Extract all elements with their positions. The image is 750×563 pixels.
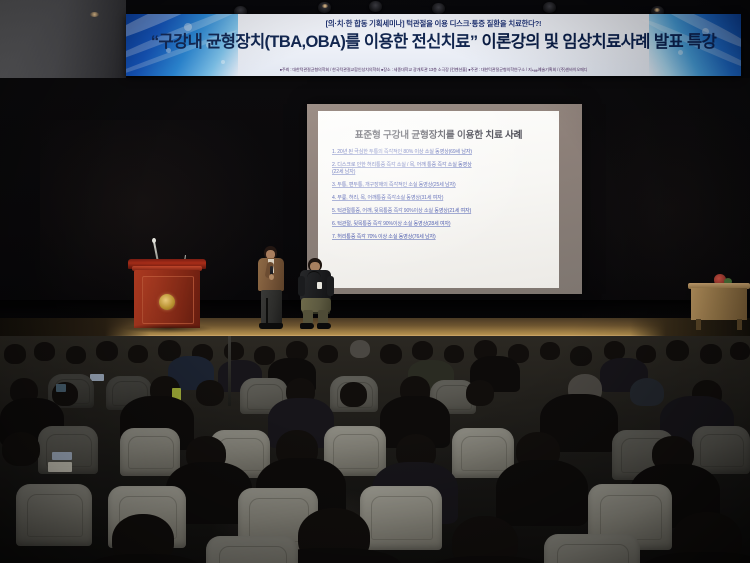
banner-title-suffix: 이론강의 및 임상치료사례 발표 특강 [478, 33, 717, 51]
audience-body-foreground [84, 554, 204, 563]
audience-head [4, 344, 26, 364]
standing-presenter [256, 246, 290, 330]
seminar-banner: [의·치·한 합동 기획세미나] 턱관절을 이용 디스크·통증 질환을 치료한다… [126, 14, 741, 76]
slide-bullet: 7. 허리통증 즉각 70% 이상 소실 동영상(76세 남자) [332, 234, 547, 242]
audience-head [128, 345, 148, 363]
ceiling-spotlight-icon [369, 1, 382, 12]
slide-bullet: 4. 무릎, 허리, 목, 어깨통증 즉각소실 동영상(31세 여자) [332, 195, 547, 203]
slide-bullet: 5. 턱관절통증, 어깨, 뒷목통증 즉각 90%이상 소실 동영상(21세 여… [332, 208, 547, 216]
audience-head-with-cap [630, 378, 664, 406]
banner-title-text: 구강내 균형장치(TBA,OBA)를 이용한 전신치료 [158, 33, 469, 51]
banner-footer-credits: ●주최 : 대한턱관절균형의학회 / 한국턱관절교합인성치의학회 ●장소 : 세… [126, 67, 741, 73]
table-leg-left [696, 319, 701, 330]
audience-head [570, 346, 592, 366]
participant-shoe-left [300, 323, 314, 329]
podium-microphone-icon [152, 238, 156, 243]
microphone-stand [228, 336, 231, 406]
audience-head [466, 380, 494, 406]
audience-body-foreground [424, 556, 552, 563]
quote-close: ” [470, 33, 478, 51]
projection-screen-frame: 표준형 구강내 균형장치를 이용한 치료 사례 1. 20년 된 극심한 두통의… [307, 104, 582, 294]
presenter-leg-gap [266, 298, 268, 324]
handout-paper [90, 374, 104, 381]
participant-shoe-right [317, 323, 331, 329]
audience-head [96, 341, 118, 361]
slide-bullet-text: 6. 턱관절, 뒷목통증 즉각 90%이상 소실 동영상(28세 여자) [332, 221, 450, 227]
name-badge [317, 282, 322, 289]
slide-bullet: 6. 턱관절, 뒷목통증 즉각 90%이상 소실 동영상(28세 여자) [332, 221, 547, 229]
ceiling-spotlight-icon [432, 3, 445, 14]
audience-head [318, 345, 338, 363]
presenter-legs [261, 290, 282, 324]
slide-bullet: 3. 두통, 편두통, 개구장애의 즉각적인 소실 동영상(25세 남자) [332, 182, 547, 190]
audience-head [540, 342, 560, 360]
audience-head [380, 344, 402, 364]
audience-head [666, 340, 689, 361]
audience-head [196, 380, 224, 406]
audience-head [34, 342, 55, 361]
slide-bullet-text: 3. 두통, 편두통, 개구장애의 즉각적인 소실 동영상(25세 남자) [332, 182, 456, 188]
participant-arm-left [298, 276, 305, 296]
audience-area [0, 336, 750, 563]
auditorium-seat [360, 486, 442, 550]
audience-head [340, 382, 367, 407]
podium [128, 253, 206, 328]
slide-bullet-subtext: (22세 남자) [332, 169, 547, 177]
slide-bullet-text: 4. 무릎, 허리, 목, 어깨통증 즉각소실 동영상(31세 여자) [332, 195, 443, 201]
table-body [691, 288, 747, 320]
spotlight-glow [322, 4, 328, 8]
slide-bullet-text: 5. 턱관절통증, 어깨, 뒷목통증 즉각 90%이상 소실 동영상(21세 여… [332, 208, 471, 214]
table-leg-right [737, 319, 742, 330]
slide-bullet-text: 1. 20년 된 극심한 두통의 즉각적인 80% 이상 소실 동영상(69세 … [332, 149, 472, 155]
participant-arm-right [327, 276, 334, 296]
audience-head [444, 345, 464, 363]
auditorium-scene: [의·치·한 합동 기획세미나] 턱관절을 이용 디스크·통증 질환을 치료한다… [0, 0, 750, 563]
audience-head [2, 432, 40, 466]
slide-bullet-text: 7. 허리통증 즉각 70% 이상 소실 동영상(76세 남자) [332, 234, 436, 240]
audience-head [412, 341, 433, 360]
presenter-hand [269, 274, 274, 280]
audience-head [224, 342, 244, 360]
auditorium-seat [206, 536, 298, 563]
podium-floor-shadow [124, 324, 212, 333]
audience-body [496, 460, 588, 526]
audience-head [700, 344, 722, 364]
auditorium-seat [120, 428, 180, 476]
audience-head [350, 340, 370, 358]
audience-head [730, 342, 750, 360]
banner-main-title: “구강내 균형장치(TBA,OBA)를 이용한 전신치료” 이론강의 및 임상치… [126, 28, 741, 52]
slide-body: 1. 20년 된 극심한 두통의 즉각적인 80% 이상 소실 동영상(69세 … [332, 149, 547, 246]
handout-paper [52, 452, 72, 460]
audience-head [66, 346, 86, 364]
handout-paper [56, 384, 66, 392]
presenter-shoes [259, 323, 283, 329]
slide-bullet-text: 2. 디스크로 인한 허리통증 즉각 소실 / 목, 어깨 통증 즉각 소실 동… [332, 162, 472, 168]
podium-body [134, 270, 200, 328]
auditorium-seat [16, 484, 92, 546]
podium-emblem-icon [159, 294, 175, 310]
stage-side-table [688, 283, 750, 331]
ceiling-spotlight-icon [543, 2, 556, 13]
seated-participant [297, 258, 335, 330]
auditorium-seat [544, 534, 640, 563]
spotlight-glow [654, 8, 660, 12]
projection-screen: 표준형 구강내 균형장치를 이용한 치료 사례 1. 20년 된 극심한 두통의… [318, 111, 559, 288]
slide-bullet: 2. 디스크로 인한 허리통증 즉각 소실 / 목, 어깨 통증 즉각 소실 동… [332, 162, 547, 177]
slide-bullet: 1. 20년 된 극심한 두통의 즉각적인 80% 이상 소실 동영상(69세 … [332, 149, 547, 157]
handout-paper [48, 462, 72, 472]
spotlight-glow [90, 12, 99, 17]
audience-body-foreground [640, 552, 750, 563]
slide-title: 표준형 구강내 균형장치를 이용한 치료 사례 [318, 127, 559, 141]
